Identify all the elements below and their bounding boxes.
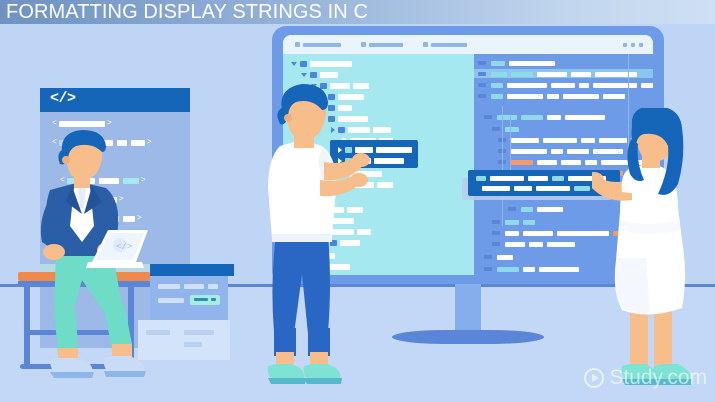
watermark: Study.com: [584, 367, 707, 388]
code-token: [511, 72, 533, 77]
folder-icon: [300, 61, 307, 67]
file-tree-row[interactable]: [291, 60, 355, 67]
code-token: [497, 115, 517, 120]
line-number: [492, 231, 500, 235]
line-number: [484, 267, 492, 271]
code-token: [491, 83, 503, 88]
code-token: [547, 94, 559, 99]
code-token: [497, 267, 519, 272]
code-token: [529, 242, 543, 247]
file-tree-label: [310, 61, 352, 67]
file-tree-label-secondary: [373, 127, 391, 133]
code-token: [551, 83, 575, 88]
code-token: [505, 220, 519, 225]
code-token: [547, 115, 561, 120]
page-title: FORMATTING DISPLAY STRINGS IN C: [6, 1, 368, 24]
code-token: [551, 149, 563, 154]
line-number: [478, 61, 486, 65]
code-token: [523, 231, 553, 236]
line-number: [492, 220, 500, 224]
code-token: [595, 72, 637, 77]
code-token: [497, 255, 513, 260]
code-line[interactable]: [484, 266, 583, 272]
code-line[interactable]: [478, 71, 641, 77]
line-number: [508, 207, 516, 211]
code-token: [537, 207, 563, 212]
code-line[interactable]: [478, 93, 629, 99]
editor-menu-item[interactable]: [361, 42, 403, 47]
code-token: [507, 83, 547, 88]
file-tree-label: [320, 72, 338, 78]
code-brackets-icon: </>: [50, 90, 76, 107]
code-token: [491, 94, 503, 99]
code-line[interactable]: [478, 82, 653, 88]
chevron-down-icon[interactable]: [301, 73, 307, 77]
editor-menu-item[interactable]: [295, 42, 341, 47]
code-token: [523, 267, 535, 272]
code-token: [507, 94, 543, 99]
editor-menu-item-label: [431, 43, 467, 47]
file-tree-label-secondary: [377, 182, 393, 188]
line-number: [478, 94, 486, 98]
file-tree-row[interactable]: [301, 71, 341, 78]
monitor-stand-neck: [455, 284, 481, 336]
code-token: [509, 61, 555, 66]
editor-menu-item[interactable]: [423, 42, 467, 47]
standing-developer-left: [258, 84, 370, 390]
code-block-bracket: [502, 106, 503, 226]
code-line[interactable]: [492, 241, 579, 247]
line-number: [484, 255, 492, 259]
title-banner: FORMATTING DISPLAY STRINGS IN C: [0, 0, 715, 24]
code-line[interactable]: [478, 60, 559, 66]
menu-square-icon: [423, 42, 428, 47]
code-line[interactable]: [484, 254, 517, 260]
code-token: [523, 220, 535, 225]
code-token: [491, 72, 507, 77]
code-token: [59, 121, 105, 127]
code-token: [537, 72, 567, 77]
code-token: [571, 72, 591, 77]
code-token: [505, 231, 519, 236]
code-line[interactable]: [508, 206, 567, 212]
code-token: [521, 115, 543, 120]
editor-toolbar: [283, 35, 653, 54]
line-number: [478, 72, 486, 76]
code-token: [491, 61, 505, 66]
code-token: [543, 138, 577, 143]
chevron-down-icon[interactable]: [291, 62, 297, 66]
code-token: [603, 94, 625, 99]
code-token: [567, 149, 589, 154]
code-token: [511, 160, 533, 165]
close-dot-icon[interactable]: [639, 43, 643, 47]
side-card-action-button[interactable]: [190, 295, 220, 305]
code-token: [561, 160, 581, 165]
standing-developer-right: [592, 108, 702, 394]
code-token: [539, 267, 579, 272]
menu-square-icon: [361, 42, 366, 47]
code-token: [505, 242, 525, 247]
editor-menu-item-label: [303, 43, 341, 47]
line-number: [484, 115, 492, 119]
angle-bracket-close-icon: >: [107, 120, 112, 127]
menu-square-icon: [295, 42, 300, 47]
watermark-label: Study.com: [609, 367, 707, 388]
line-number: [478, 83, 486, 87]
code-token: [537, 160, 557, 165]
code-token: [505, 127, 519, 132]
play-circle-icon: [584, 368, 604, 388]
illustration-stage: </> <><><><><><><><>: [0, 0, 715, 402]
code-token: [521, 207, 533, 212]
svg-text:</>: </>: [116, 242, 132, 252]
code-token: [511, 138, 539, 143]
angle-bracket-open-icon: <: [52, 120, 57, 127]
code-token: [593, 83, 637, 88]
laptop: </>: [86, 228, 156, 274]
folder-icon: [310, 72, 317, 78]
code-token: [511, 149, 547, 154]
window-controls[interactable]: [623, 43, 643, 47]
line-number: [492, 127, 500, 131]
minimize-dot-icon[interactable]: [623, 43, 627, 47]
monitor-stand-base: [392, 330, 544, 344]
code-token: [563, 94, 599, 99]
maximize-dot-icon[interactable]: [631, 43, 635, 47]
code-token: [641, 83, 653, 88]
code-line[interactable]: [492, 219, 539, 225]
code-token: [579, 83, 589, 88]
code-line[interactable]: [492, 126, 523, 132]
editor-menu-item-label: [369, 43, 403, 47]
code-token: [547, 242, 575, 247]
line-number: [492, 242, 500, 246]
left-panel-code-line: <>: [52, 120, 112, 127]
